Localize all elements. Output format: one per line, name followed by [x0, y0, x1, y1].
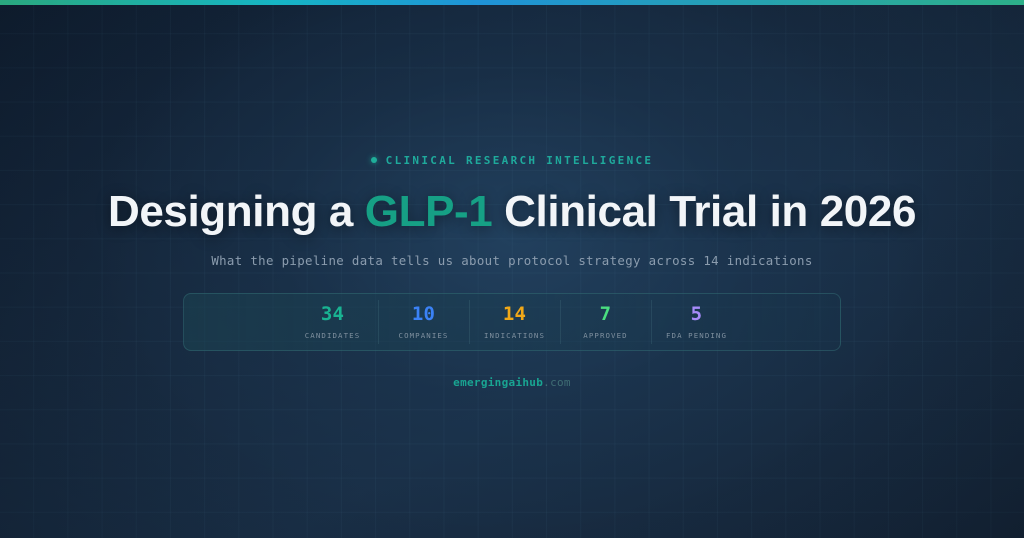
- stats-bar: 34CANDIDATES10COMPANIES14INDICATIONS7APP…: [183, 293, 841, 351]
- stat-item-indications: 14INDICATIONS: [469, 294, 560, 350]
- stat-value: 14: [503, 305, 526, 324]
- eyebrow-label: CLINICAL RESEARCH INTELLIGENCE: [386, 154, 654, 167]
- headline-part-after: Clinical Trial in 2026: [492, 187, 916, 236]
- slide-content: CLINICAL RESEARCH INTELLIGENCE Designing…: [0, 0, 1024, 538]
- stat-item-companies: 10COMPANIES: [378, 294, 469, 350]
- stat-value: 34: [321, 305, 344, 324]
- stat-label: APPROVED: [583, 331, 627, 340]
- headline-accent-term: GLP-1: [365, 187, 493, 236]
- stat-value: 5: [691, 305, 703, 324]
- stat-label: COMPANIES: [399, 331, 449, 340]
- stat-label: INDICATIONS: [484, 331, 545, 340]
- stat-item-fda-pending: 5FDA PENDING: [651, 294, 742, 350]
- watermark-brand: emergingaihub: [453, 376, 543, 389]
- stat-item-approved: 7APPROVED: [560, 294, 651, 350]
- stat-label: CANDIDATES: [305, 331, 361, 340]
- stat-value: 7: [600, 305, 612, 324]
- page-title: Designing a GLP-1 Clinical Trial in 2026: [108, 188, 916, 236]
- watermark-tld: .com: [543, 376, 571, 389]
- headline-part-before: Designing a: [108, 187, 365, 236]
- slide-canvas: CLINICAL RESEARCH INTELLIGENCE Designing…: [0, 0, 1024, 538]
- site-watermark: emergingaihub.com: [453, 376, 571, 389]
- eyebrow-kicker: CLINICAL RESEARCH INTELLIGENCE: [371, 152, 654, 168]
- top-accent-bar: [0, 0, 1024, 5]
- stat-label: FDA PENDING: [666, 331, 727, 340]
- stat-value: 10: [412, 305, 435, 324]
- page-subtitle: What the pipeline data tells us about pr…: [211, 253, 812, 268]
- status-dot-icon: [371, 157, 377, 163]
- stat-item-candidates: 34CANDIDATES: [287, 294, 378, 350]
